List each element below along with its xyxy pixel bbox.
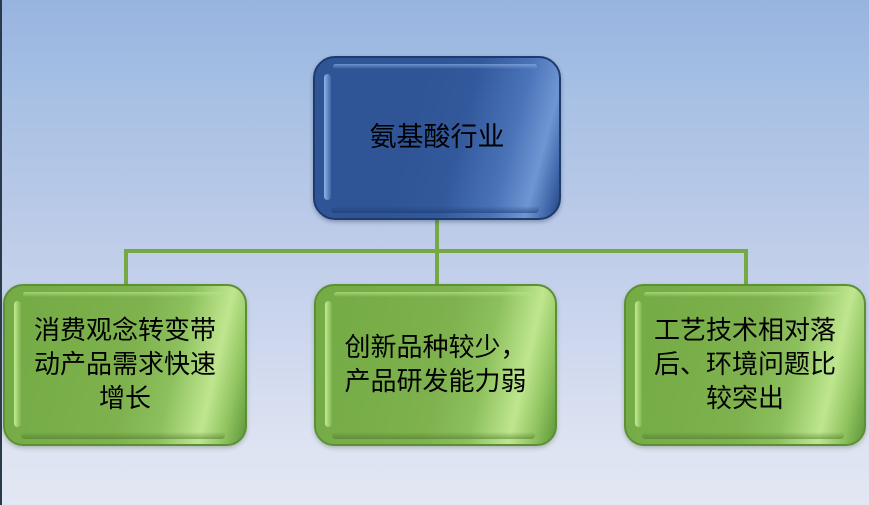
bevel-shadow-bottom-icon <box>332 432 535 439</box>
bevel-shadow-bottom-icon <box>642 432 844 439</box>
bevel-shadow-bottom-icon <box>21 432 225 439</box>
bevel-highlight-top-icon <box>23 292 223 297</box>
bevel-highlight-left-icon <box>14 301 21 427</box>
bevel-highlight-left-icon <box>325 301 332 427</box>
node-root-label: 氨基酸行业 <box>360 120 515 156</box>
node-leaf-label: 消费观念转变带 动产品需求快速 增长 <box>24 314 226 417</box>
bevel-highlight-left-icon <box>635 301 642 427</box>
node-leaf-few-innovative-varieties[interactable]: 创新品种较少， 产品研发能力弱 <box>314 284 557 446</box>
bevel-highlight-top-icon <box>644 292 842 297</box>
bevel-highlight-top-icon <box>334 292 533 297</box>
node-leaf-label: 工艺技术相对落 后、环境问题比 较突出 <box>644 314 846 417</box>
diagram-canvas: 氨基酸行业 消费观念转变带 动产品需求快速 增长 创新品种较少， 产品研发能力弱… <box>0 0 869 505</box>
bevel-highlight-top-icon <box>333 64 537 69</box>
bevel-shadow-bottom-icon <box>331 206 539 213</box>
bevel-highlight-left-icon <box>324 74 331 200</box>
connector-drop-1 <box>124 251 128 287</box>
node-leaf-consumer-demand-growth[interactable]: 消费观念转变带 动产品需求快速 增长 <box>3 284 247 446</box>
node-leaf-backward-technology-environment[interactable]: 工艺技术相对落 后、环境问题比 较突出 <box>624 284 866 446</box>
node-leaf-label: 创新品种较少， 产品研发能力弱 <box>334 331 536 400</box>
connector-drop-2 <box>435 251 439 287</box>
node-root-amino-acid-industry[interactable]: 氨基酸行业 <box>313 56 561 220</box>
connector-drop-3 <box>744 251 748 287</box>
